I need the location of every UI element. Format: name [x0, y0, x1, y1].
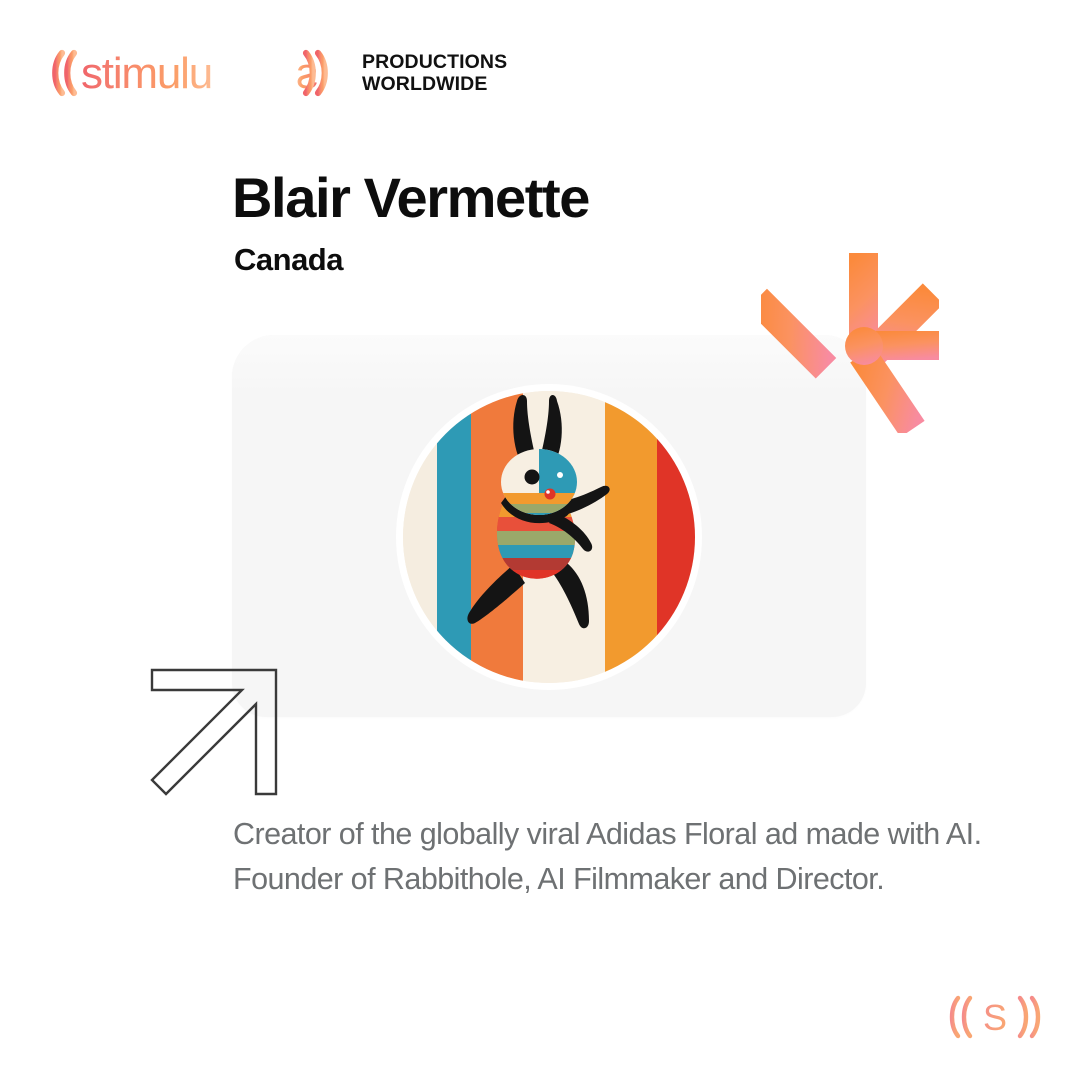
rabbit-eye-icon [525, 470, 540, 485]
svg-text:stimulu: stimulu [81, 49, 212, 98]
speaker-media-card [232, 335, 866, 717]
speaker-name: Blair Vermette [232, 168, 589, 227]
svg-text:S: S [983, 997, 1007, 1038]
brand-tagline: PRODUCTIONS WORLDWIDE [362, 52, 507, 96]
speaker-bio: Creator of the globally viral Adidas Flo… [233, 812, 1005, 902]
speaker-card-canvas: stimulu s PRODUCTIONS WORLDWIDE Blair Ve… [0, 0, 1080, 1080]
avatar [389, 377, 709, 697]
brand-lockup[interactable]: stimulu s PRODUCTIONS WORLDWIDE [48, 44, 507, 102]
speaker-country: Canada [234, 243, 343, 277]
stimulus-monogram-icon[interactable]: S [946, 990, 1044, 1044]
stimulus-wordmark-icon: stimulu s [48, 44, 348, 102]
arrow-up-right-outline-icon [148, 664, 280, 798]
